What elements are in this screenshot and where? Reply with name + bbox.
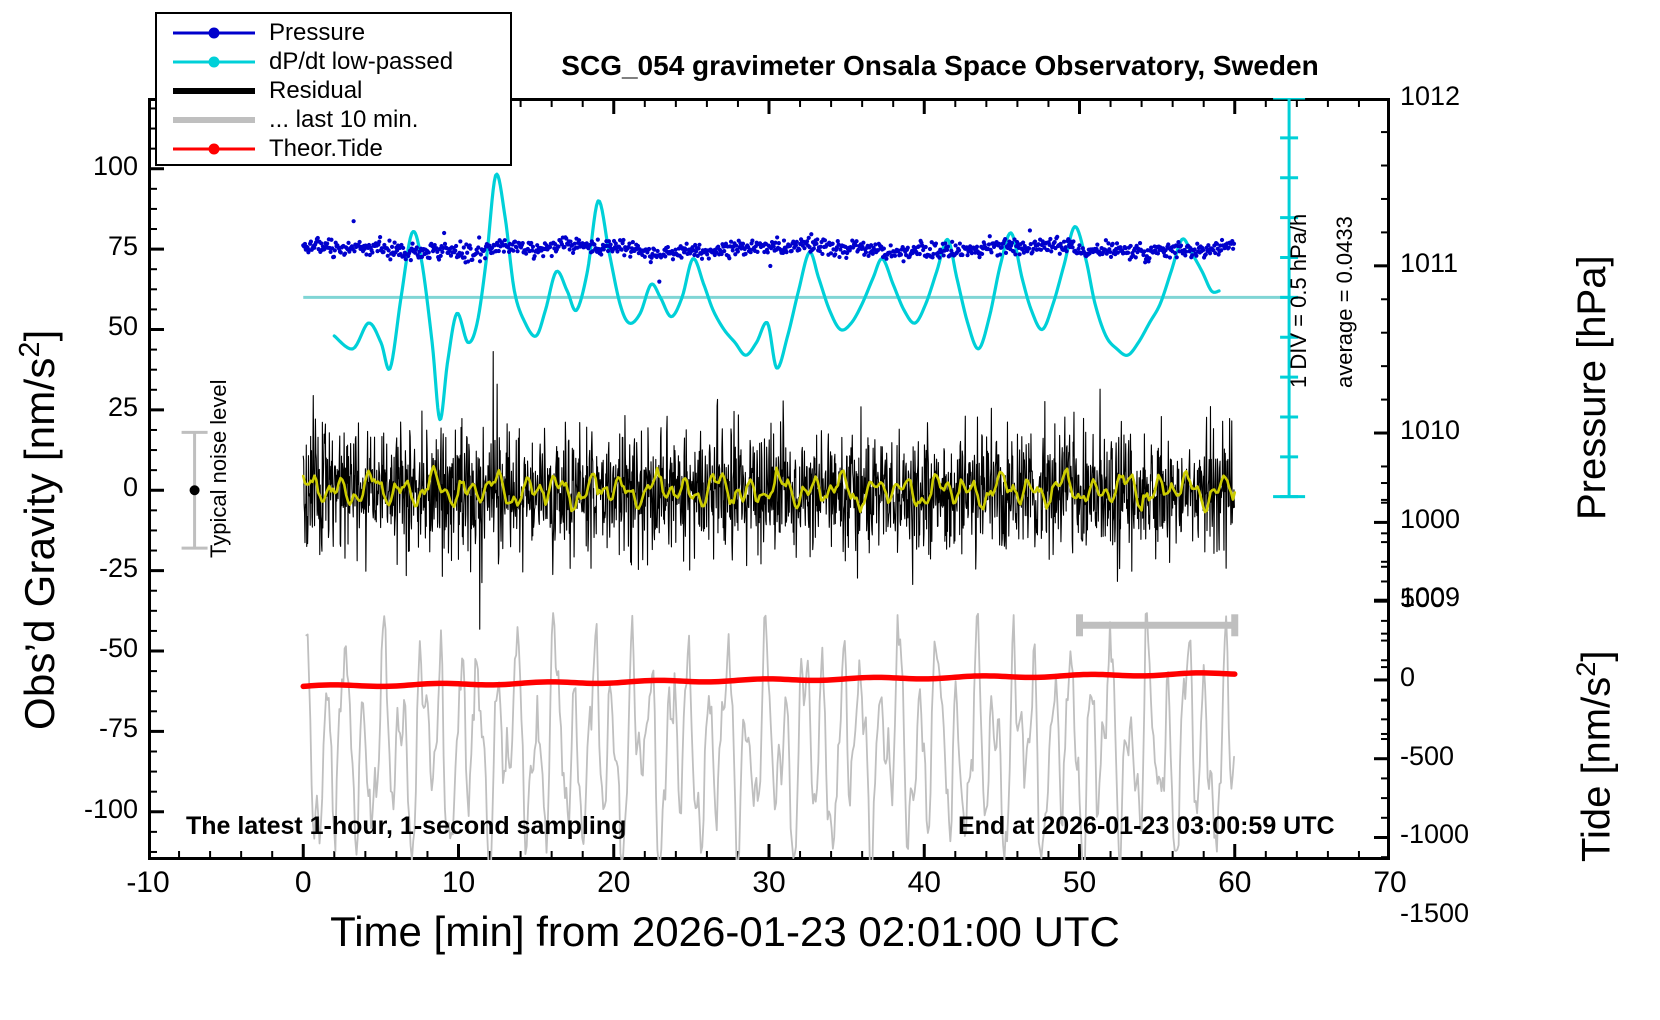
annotation-average: average = 0.0433 bbox=[1332, 216, 1358, 388]
y-tick-label-left: 25 bbox=[18, 392, 138, 423]
legend-swatch-1 bbox=[173, 23, 255, 43]
legend-item[interactable]: ... last 10 min. bbox=[157, 105, 510, 134]
x-tick-label: 20 bbox=[569, 866, 659, 900]
x-tick-label: 30 bbox=[724, 866, 814, 900]
annotation-sampling-note: The latest 1-hour, 1-second sampling bbox=[186, 812, 626, 841]
y-tick-label-left: -50 bbox=[18, 633, 138, 664]
y-axis-label-tide: Tide [nm/s2] bbox=[1570, 651, 1619, 862]
y-tick-label-pressure: 1011 bbox=[1400, 248, 1458, 279]
y-tick-label-left: 50 bbox=[18, 311, 138, 342]
legend-item[interactable]: Residual bbox=[157, 76, 510, 105]
y-tick-label-tide: 500 bbox=[1400, 583, 1445, 614]
legend-label: ... last 10 min. bbox=[255, 106, 418, 134]
annotation-div-scale: 1 DIV = 0.5 hPa/h bbox=[1286, 214, 1312, 388]
y-tick-label-left: 75 bbox=[18, 231, 138, 262]
annotation-end-time: End at 2026-01-23 03:00:59 UTC bbox=[958, 812, 1335, 841]
legend-label: Residual bbox=[255, 77, 362, 105]
x-tick-label: 50 bbox=[1035, 866, 1125, 900]
y-tick-label-left: -25 bbox=[18, 553, 138, 584]
y-tick-label-pressure: 1012 bbox=[1400, 81, 1460, 112]
y-tick-label-tide: 1000 bbox=[1400, 504, 1460, 535]
x-tick-label: 70 bbox=[1345, 866, 1435, 900]
y-tick-label-left: -100 bbox=[18, 794, 138, 825]
legend-swatch-2 bbox=[173, 52, 255, 72]
x-tick-label: 10 bbox=[414, 866, 504, 900]
x-tick-label: 60 bbox=[1190, 866, 1280, 900]
legend-swatch-5 bbox=[173, 139, 255, 159]
legend-label: Pressure bbox=[255, 19, 365, 47]
y-tick-label-left: 100 bbox=[18, 151, 138, 182]
legend-label: dP/dt low-passed bbox=[255, 48, 453, 76]
last-10-min-marker-bar bbox=[1080, 614, 1235, 636]
y-tick-label-tide: -500 bbox=[1400, 741, 1454, 772]
legend-item[interactable]: dP/dt low-passed bbox=[157, 47, 510, 76]
chart-canvas: SCG_054 gravimeter Onsala Space Observat… bbox=[0, 0, 1660, 1020]
plot-traces bbox=[148, 98, 1390, 860]
y-tick-label-tide: 0 bbox=[1400, 662, 1415, 693]
x-tick-label: -10 bbox=[103, 866, 193, 900]
y-tick-label-tide: -1000 bbox=[1400, 819, 1469, 850]
x-tick-label: 0 bbox=[258, 866, 348, 900]
x-axis-ticks: -10010203040506070 bbox=[0, 866, 1660, 916]
y-tick-label-pressure: 1010 bbox=[1400, 415, 1460, 446]
legend-swatch-3 bbox=[173, 81, 255, 101]
noise-level-errorbar bbox=[182, 432, 208, 548]
y-tick-label-left: 0 bbox=[18, 472, 138, 503]
trace-pressure bbox=[301, 219, 1236, 284]
legend: PressuredP/dt low-passedResidual... last… bbox=[155, 12, 512, 166]
legend-item[interactable]: Theor.Tide bbox=[157, 134, 510, 163]
y-tick-label-left: -75 bbox=[18, 713, 138, 744]
legend-label: Theor.Tide bbox=[255, 135, 383, 163]
annotation-noise-level: Typical noise level bbox=[206, 379, 232, 558]
legend-swatch-4 bbox=[173, 110, 255, 130]
legend-item[interactable]: Pressure bbox=[157, 18, 510, 47]
x-tick-label: 40 bbox=[879, 866, 969, 900]
y-axis-label-pressure: Pressure [hPa] bbox=[1570, 255, 1615, 520]
